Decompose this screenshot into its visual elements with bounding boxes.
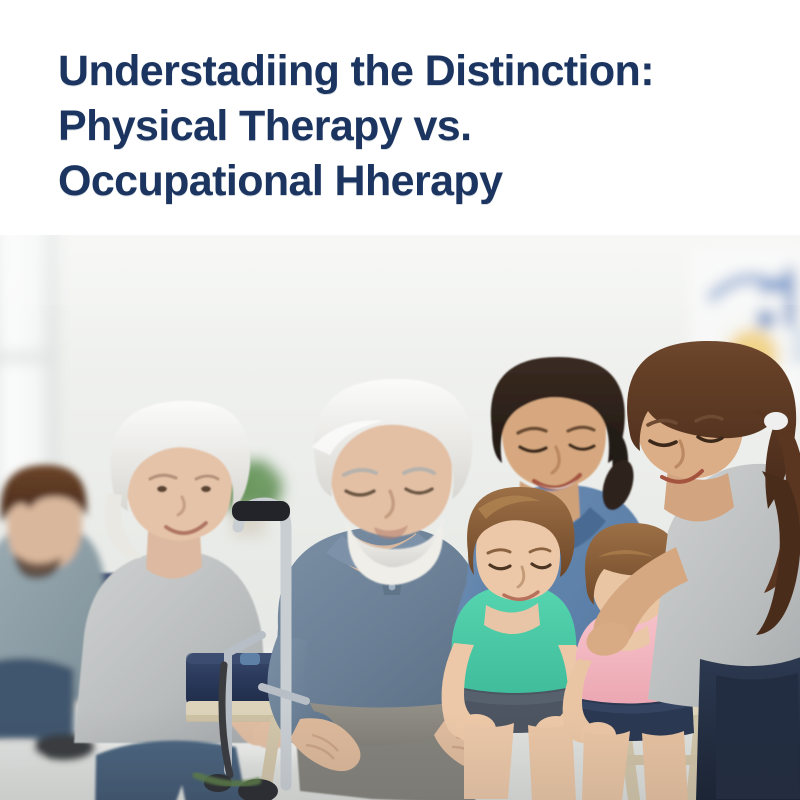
article-hero-card: Understadiing the Distinction: Physical … (0, 0, 800, 800)
treatment-table-front-edge (186, 683, 746, 717)
header-banner: Understadiing the Distinction: Physical … (0, 0, 800, 235)
page-title-line-1: Understadiing the Distinction: (58, 44, 760, 99)
clinic-scene-illustration (0, 235, 800, 800)
page-title-line-2: Physical Therapy vs. (58, 99, 760, 154)
page-title: Understadiing the Distinction: Physical … (58, 44, 760, 209)
page-title-line-3: Occupational Hherapy (58, 154, 760, 209)
hero-photo (0, 235, 800, 800)
